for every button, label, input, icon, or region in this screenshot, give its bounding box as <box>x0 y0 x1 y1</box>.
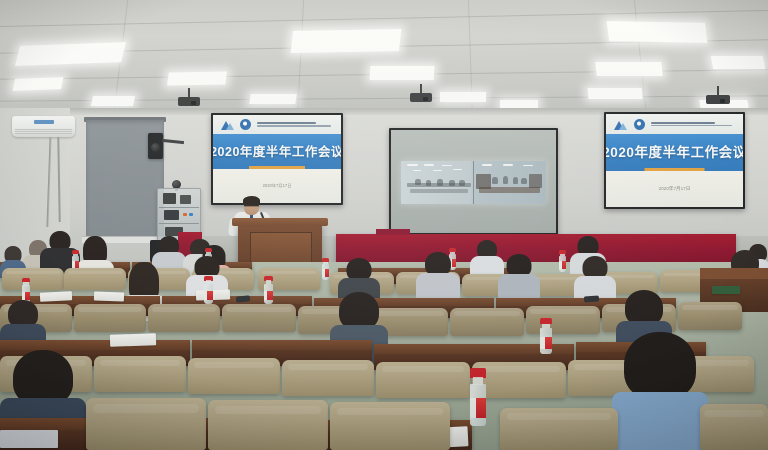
ceiling-light <box>607 21 708 43</box>
ceiling-light <box>500 100 538 108</box>
ceiling-light <box>595 62 662 76</box>
ceiling-projector <box>178 88 200 108</box>
slide-header <box>213 115 341 134</box>
water-bottle <box>322 258 329 280</box>
ceiling-light <box>440 92 486 102</box>
chair[interactable] <box>86 398 206 450</box>
podium-top <box>232 218 328 226</box>
chair[interactable] <box>148 304 220 332</box>
water-bottle <box>540 318 552 354</box>
left-projection-screen[interactable]: 2020年度半年工作会议 2020年7月17日 <box>211 113 343 205</box>
chair[interactable] <box>74 304 146 332</box>
chair[interactable] <box>472 362 566 398</box>
chair[interactable] <box>450 308 524 336</box>
slide-title: 2020年度半年工作会议 <box>606 141 743 161</box>
slide-right: 2020年度半年工作会议 2020年7月17日 <box>606 114 743 207</box>
wall-speaker <box>148 133 163 159</box>
water-bottle <box>470 368 486 426</box>
conference-room-photo: 2020年度半年工作会议 2020年7月17日 <box>0 0 768 450</box>
ceiling-light <box>167 71 227 85</box>
ceiling-projector <box>410 84 432 104</box>
slide-title: 2020年度半年工作会议 <box>213 141 341 160</box>
slide-body: 2020年7月17日 <box>213 169 341 203</box>
notebook <box>94 291 124 301</box>
slide-date: 2020年7月17日 <box>659 186 691 192</box>
ceiling-light <box>588 88 643 99</box>
ceiling-light <box>370 66 435 80</box>
chair[interactable] <box>330 402 450 450</box>
ceiling-light <box>711 56 766 69</box>
slide-body: 2020年7月17日 <box>606 171 743 207</box>
chair[interactable] <box>2 268 64 290</box>
notebook <box>196 289 230 300</box>
mobile-phone <box>584 295 599 302</box>
attendee <box>498 254 540 302</box>
papers <box>110 333 156 347</box>
attendee <box>612 332 708 450</box>
chair[interactable] <box>376 362 470 398</box>
video-conference-feed <box>401 161 546 204</box>
chair[interactable] <box>700 404 768 450</box>
ceiling-light <box>13 77 64 91</box>
slide-left: 2020年度半年工作会议 2020年7月17日 <box>213 115 341 203</box>
circular-company-logo <box>634 119 645 130</box>
slide-date: 2020年7月17日 <box>263 183 292 189</box>
air-conditioner <box>12 116 75 137</box>
papers <box>0 430 58 448</box>
chair[interactable] <box>208 400 328 450</box>
triangle-mountain-logo <box>221 119 234 130</box>
chair[interactable] <box>64 268 126 290</box>
slide-title-band: 2020年度半年工作会议 <box>606 134 743 167</box>
chair[interactable] <box>526 306 600 334</box>
chair[interactable] <box>94 356 186 392</box>
ceiling-light <box>291 29 402 53</box>
triangle-mountain-logo <box>614 119 627 130</box>
ceiling-light <box>91 96 135 106</box>
notebook <box>712 286 740 294</box>
suspended-ceiling <box>0 0 768 118</box>
water-bottle <box>264 276 273 304</box>
slide-header <box>606 114 743 134</box>
chair[interactable] <box>188 358 280 394</box>
chair[interactable] <box>282 360 374 396</box>
ceiling-light <box>15 42 126 66</box>
chair[interactable] <box>222 304 296 332</box>
center-projection-screen[interactable] <box>389 128 558 235</box>
company-name-text <box>257 122 341 127</box>
right-projection-screen[interactable]: 2020年度半年工作会议 2020年7月17日 <box>604 112 745 209</box>
chair[interactable] <box>500 408 618 450</box>
attendee <box>416 252 460 302</box>
water-bottle <box>559 250 566 272</box>
chair[interactable] <box>678 302 742 330</box>
presenter-hair <box>243 196 260 205</box>
ceiling-light <box>249 94 296 104</box>
company-name-text <box>651 122 743 127</box>
circular-company-logo <box>240 119 251 130</box>
water-bottle <box>204 276 213 304</box>
slide-title-band: 2020年度半年工作会议 <box>213 134 341 166</box>
ceiling-projector <box>706 86 730 107</box>
